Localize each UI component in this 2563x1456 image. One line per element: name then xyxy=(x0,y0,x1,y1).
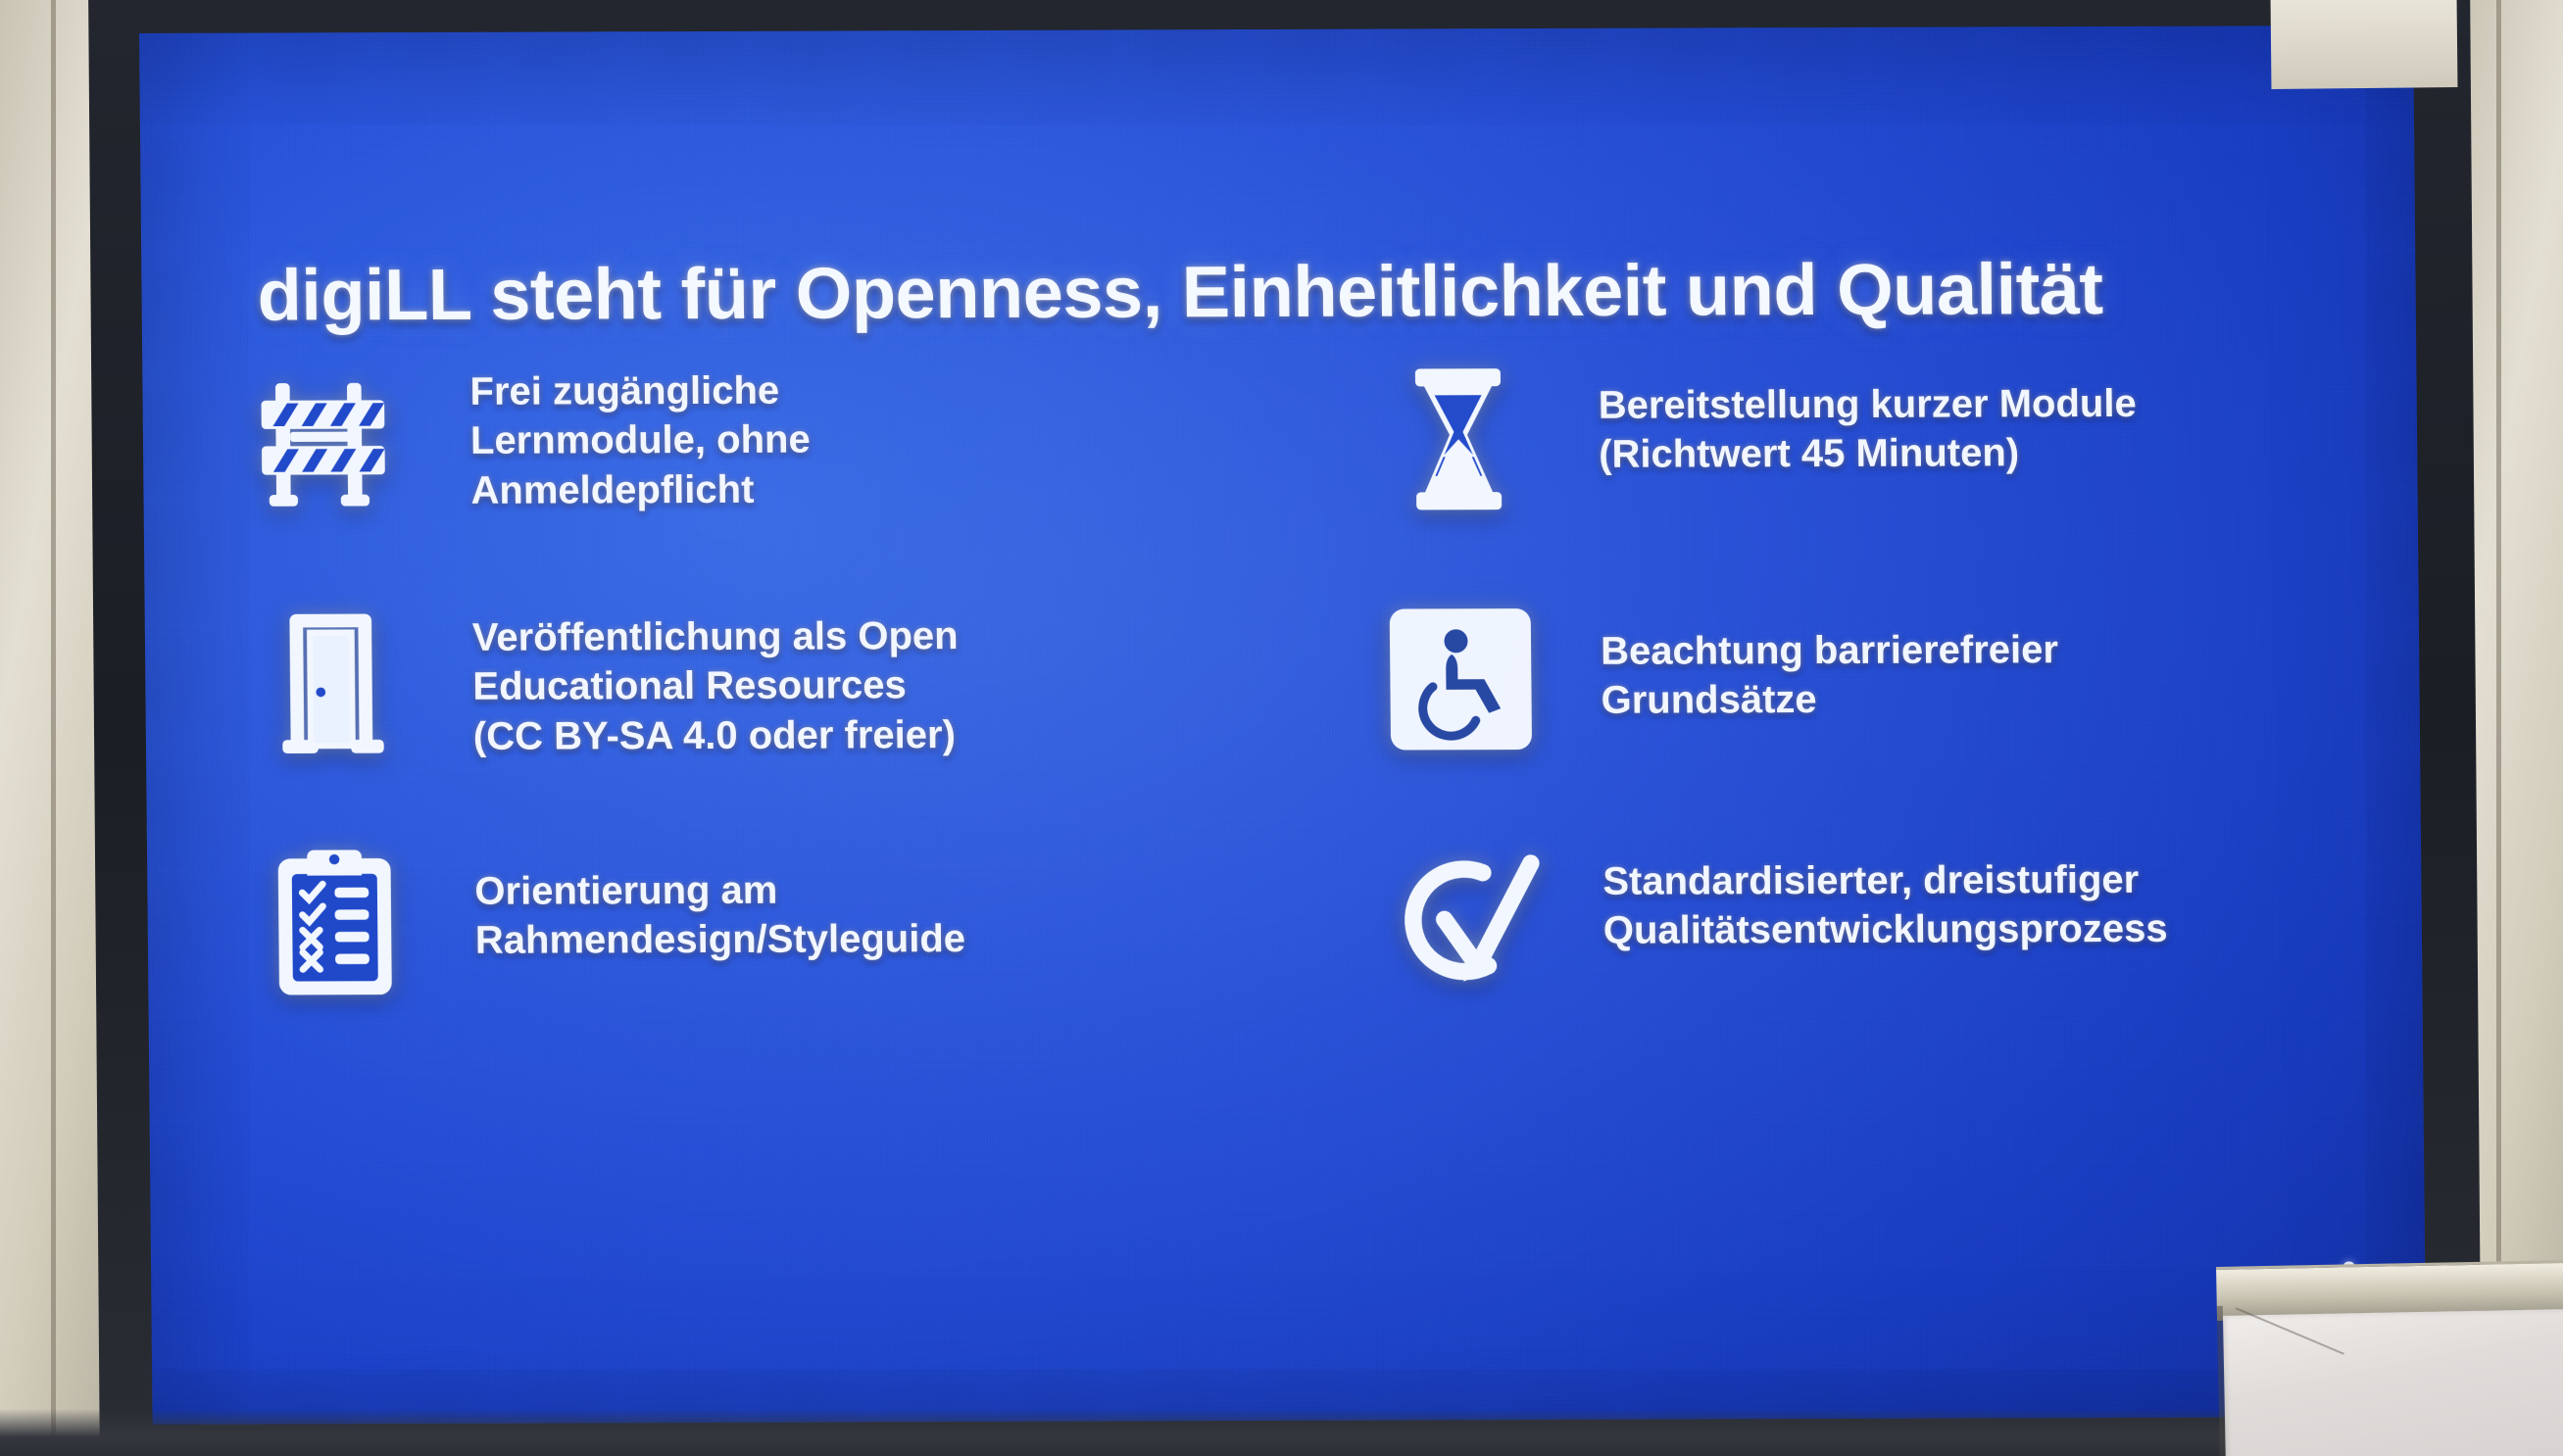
feature-item-label: Standardisierter, dreistufiger Qualitäts… xyxy=(1602,829,2373,956)
feature-item-label: Beachtung barrierefreier Grundsätze xyxy=(1601,589,2371,726)
feature-item-label: Veröffentlichung als Open Educational Re… xyxy=(472,593,1289,761)
projection-room-photo: digiLL steht für Openness, Einheitlichke… xyxy=(0,0,2563,1456)
feature-item-veroeffentlichung-oer: Veröffentlichung als Open Educational Re… xyxy=(243,593,1289,837)
feature-item-bereitstellung-kurzer-module: Bereitstellung kurzer Module (Richtwert … xyxy=(1323,349,2369,593)
road-barrier-icon xyxy=(240,356,420,531)
flipchart-top-rail xyxy=(2271,0,2458,89)
feature-item-label: Orientierung am Rahmendesign/Styleguide xyxy=(474,833,1290,966)
feature-item-frei-zugaengliche-lernmodule: Frei zugängliche Lernmodule, ohne Anmeld… xyxy=(240,353,1286,597)
feature-item-qualitaetsprozess: Standardisierter, dreistufiger Qualitäts… xyxy=(1328,829,2374,1073)
cycle-check-icon xyxy=(1373,832,1553,1007)
clipboard-checklist-icon xyxy=(245,836,425,1011)
feature-item-barrierefreiheit: Beachtung barrierefreier Grundsätze xyxy=(1326,589,2372,833)
slide-content: digiLL steht für Openness, Einheitlichke… xyxy=(139,25,2427,1425)
hourglass-icon xyxy=(1368,352,1549,527)
flipchart-paper-sheet xyxy=(2223,1309,2563,1456)
floor-shadow xyxy=(0,1409,2563,1456)
wall-seam-left xyxy=(51,0,56,1456)
feature-item-orientierung-styleguide: Orientierung am Rahmendesign/Styleguide xyxy=(245,833,1291,1077)
page-title: digiLL steht für Openness, Einheitlichke… xyxy=(257,249,2296,334)
wall-seam-right xyxy=(2496,0,2501,1456)
feature-item-label: Frei zugängliche Lernmodule, ohne Anmeld… xyxy=(469,353,1286,515)
projected-slide: digiLL steht für Openness, Einheitlichke… xyxy=(139,25,2427,1425)
feature-grid: Frei zugängliche Lernmodule, ohne Anmeld… xyxy=(240,349,2374,1077)
flipchart-board xyxy=(2216,1260,2563,1456)
feature-item-label: Bereitstellung kurzer Module (Richtwert … xyxy=(1598,349,2368,480)
wheelchair-accessibility-icon xyxy=(1371,592,1552,767)
open-door-icon xyxy=(243,596,423,771)
